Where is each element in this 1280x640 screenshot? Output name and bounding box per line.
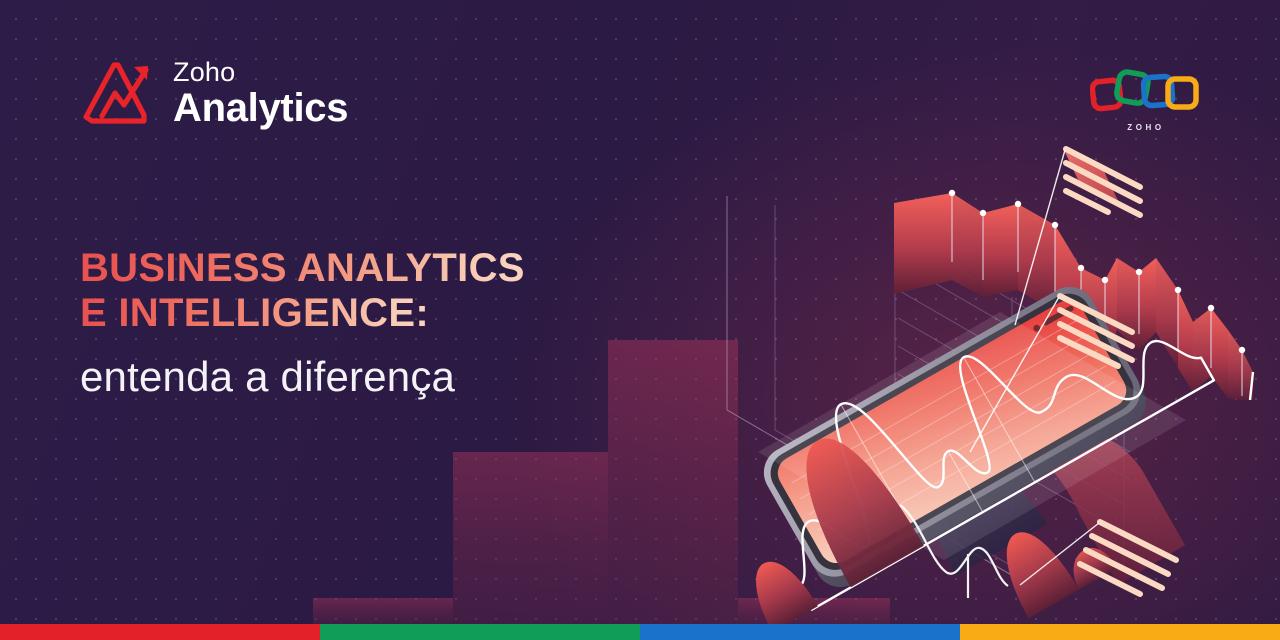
zoho-corporate-wordmark: ZOHO	[1090, 123, 1202, 132]
footer-color-strip	[0, 624, 1280, 640]
strip-segment-yellow	[960, 624, 1280, 640]
logo-wordmark: Zoho Analytics	[173, 59, 348, 128]
headline-subtitle: entenda a diferença	[80, 354, 700, 400]
headline-line-1: BUSINESS ANALYTICS	[80, 246, 525, 291]
logo-zoho-text: Zoho	[173, 59, 348, 86]
zoho-analytics-logo[interactable]: Zoho Analytics	[78, 58, 348, 128]
analytics-triangle-arrow-icon	[78, 58, 156, 128]
headline-block: BUSINESS ANALYTICS E INTELLIGENCE: enten…	[80, 246, 700, 400]
strip-segment-red	[0, 624, 320, 640]
banner-root: Zoho Analytics ZOHO BUSINESS ANALYTICS E…	[0, 0, 1280, 640]
headline-line-2: E INTELLIGENCE:	[80, 291, 429, 336]
strip-segment-green	[320, 624, 640, 640]
zoho-corporate-logo[interactable]: ZOHO	[1090, 63, 1202, 133]
strip-segment-blue	[640, 624, 960, 640]
logo-analytics-text: Analytics	[173, 88, 348, 128]
